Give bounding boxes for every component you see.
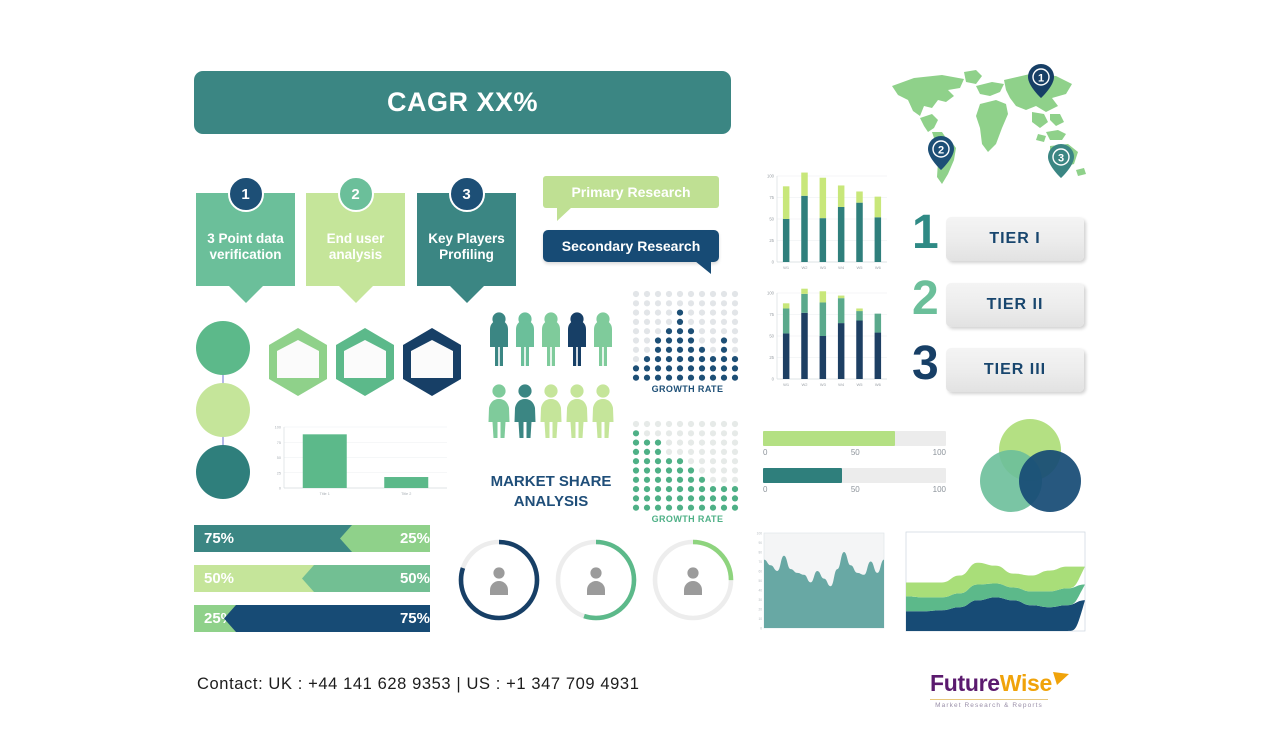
- tier-label-1: TIER I: [989, 230, 1040, 248]
- svg-text:Title 2: Title 2: [401, 492, 411, 496]
- svg-text:W5: W5: [857, 382, 864, 387]
- svg-text:80: 80: [758, 551, 762, 555]
- slider-teal-tick-50: 50: [851, 485, 860, 494]
- svg-text:40: 40: [758, 589, 762, 593]
- map-pin-2[interactable]: 2: [928, 136, 954, 175]
- percent-bar-2-right: 50%: [302, 565, 440, 592]
- svg-text:75: 75: [769, 312, 774, 317]
- svg-text:W4: W4: [838, 382, 845, 387]
- cagr-banner-title: CAGR XX%: [387, 87, 538, 118]
- svg-text:W4: W4: [838, 265, 845, 270]
- svg-text:W6: W6: [875, 265, 882, 270]
- callout-primary-research[interactable]: Primary Research: [543, 176, 719, 208]
- step-badge-2: 2: [338, 176, 374, 212]
- chain-circle-1: [196, 321, 250, 375]
- growth-rate-dots-navy: GROWTH RATE: [630, 288, 745, 403]
- donut-group: [455, 530, 745, 630]
- logo-first-word: Future: [930, 670, 1000, 696]
- step-card-1[interactable]: 1 3 Point data verification: [196, 193, 295, 286]
- slider-teal-tick-100: 100: [933, 485, 946, 494]
- svg-text:W6: W6: [875, 382, 882, 387]
- tier-number-2: 2: [912, 277, 939, 321]
- step-label-3: Key Players Profiling: [417, 217, 516, 263]
- svg-text:10: 10: [758, 617, 762, 621]
- percent-bar-row-1: 75% 25%: [194, 525, 440, 552]
- venn-circles: [978, 418, 1083, 516]
- tier-row-2[interactable]: 2 TIER II: [912, 283, 1084, 327]
- logo-arrow-icon: [1052, 671, 1070, 689]
- growth-rate-caption-navy: GROWTH RATE: [630, 384, 745, 394]
- growth-rate-dots-green: GROWTH RATE: [630, 418, 745, 533]
- svg-text:0: 0: [772, 260, 775, 265]
- stacked-bar-chart-top: 0255075100W1W2W3W4W5W6: [755, 168, 895, 280]
- percent-bar-3-right: 75%: [224, 605, 440, 632]
- callout-primary-label: Primary Research: [571, 184, 690, 200]
- svg-text:90: 90: [758, 541, 762, 545]
- market-share-analysis-label: MARKET SHARE ANALYSIS: [463, 472, 639, 512]
- svg-text:0: 0: [760, 627, 762, 631]
- svg-text:50: 50: [769, 334, 774, 339]
- contact-line: Contact: UK : +44 141 628 9353 | US : +1…: [197, 675, 639, 694]
- svg-text:75: 75: [277, 441, 281, 445]
- tier-row-3[interactable]: 3 TIER III: [912, 348, 1084, 392]
- svg-text:100: 100: [757, 532, 763, 536]
- svg-text:100: 100: [767, 291, 775, 296]
- people-pictogram: [485, 312, 620, 472]
- chain-circle-3: [196, 445, 250, 499]
- step-badge-3: 3: [449, 176, 485, 212]
- percent-bar-row-2: 50% 50%: [194, 565, 440, 592]
- hexagon-group: [265, 326, 470, 398]
- growth-rate-caption-green: GROWTH RATE: [630, 514, 745, 524]
- area-chart-stacked: [903, 529, 1088, 634]
- callout-secondary-research[interactable]: Secondary Research: [543, 230, 719, 262]
- svg-text:70: 70: [758, 560, 762, 564]
- svg-text:0: 0: [279, 487, 281, 491]
- svg-text:W1: W1: [783, 382, 790, 387]
- svg-text:50: 50: [758, 579, 762, 583]
- futurewise-logo[interactable]: Future Wise Market Research & Reports: [930, 670, 1070, 714]
- slider-green[interactable]: 0 50 100: [763, 431, 946, 460]
- step-card-2[interactable]: 2 End user analysis: [306, 193, 405, 286]
- tier-label-3: TIER III: [984, 361, 1046, 379]
- callout-secondary-label: Secondary Research: [562, 238, 701, 254]
- logo-second-word: Wise: [1000, 670, 1052, 696]
- tier-number-3: 3: [912, 342, 939, 386]
- slider-green-tick-100: 100: [933, 448, 946, 457]
- step-label-1: 3 Point data verification: [196, 217, 295, 263]
- slider-teal-tick-0: 0: [763, 485, 767, 494]
- svg-text:30: 30: [758, 598, 762, 602]
- map-pin-1[interactable]: 1: [1028, 64, 1054, 103]
- map-pin-3[interactable]: 3: [1048, 144, 1074, 183]
- svg-text:0: 0: [772, 377, 775, 382]
- svg-text:W5: W5: [857, 265, 864, 270]
- svg-text:60: 60: [758, 570, 762, 574]
- step-label-2: End user analysis: [306, 217, 405, 263]
- svg-text:25: 25: [769, 238, 774, 243]
- svg-text:W2: W2: [802, 382, 809, 387]
- svg-text:W3: W3: [820, 382, 827, 387]
- tier-label-2: TIER II: [987, 296, 1044, 314]
- svg-text:2: 2: [938, 145, 944, 157]
- venn-circle-navy: [1019, 450, 1081, 512]
- step-card-3[interactable]: 3 Key Players Profiling: [417, 193, 516, 286]
- tier-row-1[interactable]: 1 TIER I: [912, 217, 1084, 261]
- stacked-bar-chart-bottom: 0255075100W1W2W3W4W5W6: [755, 285, 895, 397]
- svg-text:20: 20: [758, 608, 762, 612]
- svg-text:75: 75: [769, 195, 774, 200]
- svg-text:50: 50: [277, 456, 281, 460]
- cagr-banner: CAGR XX%: [194, 71, 731, 134]
- svg-text:100: 100: [275, 426, 281, 430]
- world-map: 1 2 3: [880, 62, 1090, 192]
- svg-text:50: 50: [769, 217, 774, 222]
- logo-tagline: Market Research & Reports: [930, 699, 1048, 709]
- circle-chain: [193, 320, 253, 500]
- area-chart-single: 0102030405060708090100: [748, 529, 888, 634]
- infographic-canvas: CAGR XX% 1 3 Point data verification 2 E…: [0, 0, 1280, 731]
- svg-text:W2: W2: [802, 265, 809, 270]
- svg-text:3: 3: [1058, 153, 1064, 165]
- percent-bar-row-3: 25% 75%: [194, 605, 440, 632]
- svg-text:W1: W1: [783, 265, 790, 270]
- svg-text:25: 25: [769, 355, 774, 360]
- svg-text:25: 25: [277, 471, 281, 475]
- simple-bar-chart: 0255075100Title 1Title 2: [258, 420, 453, 502]
- slider-teal[interactable]: 0 50 100: [763, 468, 946, 497]
- chain-circle-2: [196, 383, 250, 437]
- svg-text:1: 1: [1038, 73, 1044, 85]
- svg-text:100: 100: [767, 174, 775, 179]
- step-badge-1: 1: [228, 176, 264, 212]
- svg-text:W3: W3: [820, 265, 827, 270]
- svg-text:Title 1: Title 1: [320, 492, 330, 496]
- slider-green-tick-50: 50: [851, 448, 860, 457]
- percent-bar-1-right: 25%: [340, 525, 440, 552]
- tier-number-1: 1: [912, 211, 939, 255]
- slider-green-tick-0: 0: [763, 448, 767, 457]
